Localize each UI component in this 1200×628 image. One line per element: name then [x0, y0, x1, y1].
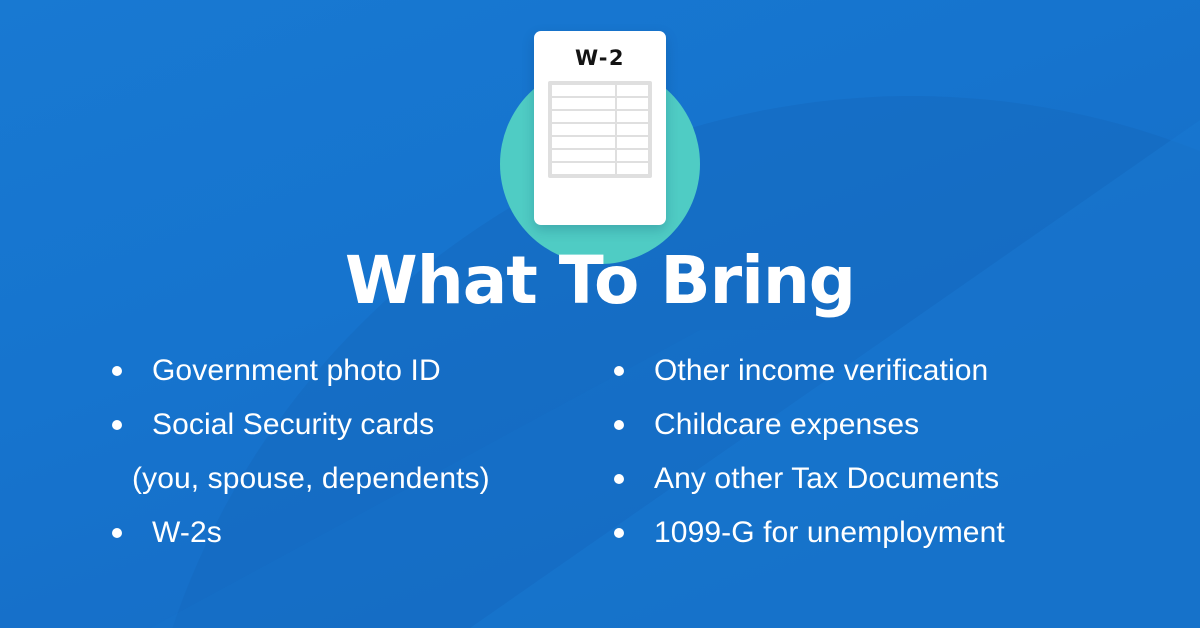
w2-table-cell — [552, 85, 615, 96]
list-item-label: Childcare expenses — [654, 406, 919, 444]
bullet-dot-icon — [614, 474, 624, 484]
w2-table-row — [552, 124, 648, 135]
bullet-dot-icon — [112, 366, 122, 376]
bullet-dot-icon — [614, 366, 624, 376]
w2-table-row — [552, 111, 648, 122]
w2-table-cell — [552, 150, 615, 161]
list-item-label: (you, spouse, dependents) — [132, 460, 490, 498]
checklist-column-right: Other income verification Childcare expe… — [600, 352, 1200, 568]
w2-table-cell — [617, 137, 648, 148]
list-item: Any other Tax Documents — [614, 460, 1200, 514]
w2-table-cell — [552, 124, 615, 135]
list-item-label: 1099-G for unemployment — [654, 514, 1005, 552]
list-item: 1099-G for unemployment — [614, 514, 1200, 568]
list-item-continuation: (you, spouse, dependents) — [112, 460, 600, 514]
list-item-label: Government photo ID — [152, 352, 441, 390]
w2-label: W-2 — [548, 41, 652, 75]
hero-icon-group: W-2 — [0, 18, 1200, 236]
w2-table-cell — [552, 163, 615, 174]
w2-document-card: W-2 — [534, 31, 666, 225]
list-item: Childcare expenses — [614, 406, 1200, 460]
list-item-label: Social Security cards — [152, 406, 434, 444]
list-item-label: Any other Tax Documents — [654, 460, 999, 498]
list-item: W-2s — [112, 514, 600, 568]
list-item-label: Other income verification — [654, 352, 988, 390]
list-item: Government photo ID — [112, 352, 600, 406]
bullet-dot-icon — [112, 528, 122, 538]
bullet-dot-icon — [614, 528, 624, 538]
what-to-bring-poster: W-2 — [0, 0, 1200, 628]
w2-table-cell — [617, 163, 648, 174]
w2-table-cell — [617, 150, 648, 161]
list-item: Other income verification — [614, 352, 1200, 406]
w2-table-row — [552, 150, 648, 161]
bullet-dot-icon — [112, 420, 122, 430]
w2-table-cell — [617, 124, 648, 135]
w2-table-row — [552, 163, 648, 174]
bullet-dot-placeholder-icon — [112, 474, 122, 484]
w2-table-cell — [617, 111, 648, 122]
w2-table-graphic — [548, 81, 652, 178]
checklist-columns: Government photo ID Social Security card… — [0, 352, 1200, 568]
w2-table-row — [552, 98, 648, 109]
w2-table-cell — [552, 137, 615, 148]
w2-table-row — [552, 85, 648, 96]
list-item-label: W-2s — [152, 514, 222, 552]
checklist-column-left: Government photo ID Social Security card… — [0, 352, 600, 568]
w2-table-cell — [617, 98, 648, 109]
w2-table-row — [552, 137, 648, 148]
w2-table-cell — [617, 85, 648, 96]
page-title: What To Bring — [0, 243, 1200, 319]
list-item: Social Security cards — [112, 406, 600, 460]
w2-table-cell — [552, 98, 615, 109]
w2-table-cell — [552, 111, 615, 122]
bullet-dot-icon — [614, 420, 624, 430]
